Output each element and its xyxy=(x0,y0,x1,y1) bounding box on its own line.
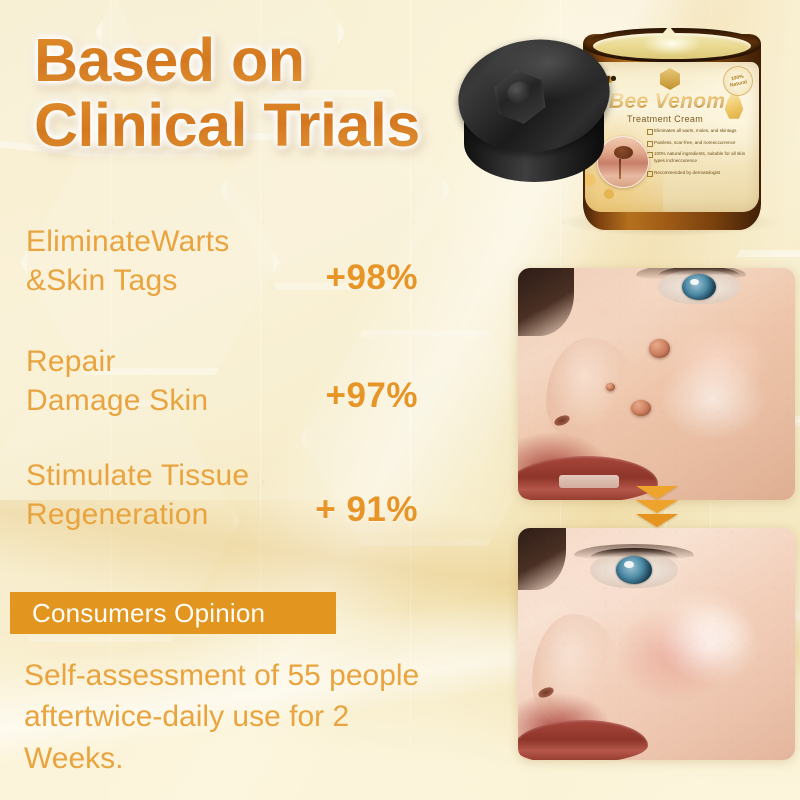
claim-item: Repair Damage Skin +97% xyxy=(0,334,460,446)
benefit-item: Eliminates all warts, moles, and skintag… xyxy=(647,128,755,135)
after-treatment-photo xyxy=(518,528,795,760)
headline-line-2: Clinical Trials xyxy=(34,93,464,158)
benefit-item: 100% natural ingredients, suitable for a… xyxy=(647,151,755,164)
claim-label-line-2: Damage Skin xyxy=(26,381,208,420)
transition-arrows xyxy=(622,486,692,534)
note-line-1: Self-assessment of 55 people xyxy=(24,655,454,696)
note-line-2: aftertwice-daily use for 2 xyxy=(24,696,454,737)
consumers-opinion-banner: Consumers Opinion xyxy=(10,592,336,634)
claim-label-line-1: Stimulate Tissue xyxy=(26,456,249,495)
claim-label-line-2: Regeneration xyxy=(26,495,249,534)
note-line-3: Weeks. xyxy=(24,738,454,779)
natural-seal-badge: 100% Natural xyxy=(720,63,756,99)
chevron-down-icon xyxy=(636,514,678,527)
claim-label: Stimulate Tissue Regeneration xyxy=(26,456,249,534)
claim-percent: +98% xyxy=(326,258,419,298)
claim-percent: + 91% xyxy=(315,490,418,530)
product-subtitle: Treatment Cream xyxy=(627,114,703,124)
claim-label: EliminateWarts &Skin Tags xyxy=(26,222,229,300)
claim-label: Repair Damage Skin xyxy=(26,342,208,420)
chevron-down-icon xyxy=(636,486,678,499)
claim-item: EliminateWarts &Skin Tags +98% xyxy=(0,222,460,334)
cream-content xyxy=(593,33,751,59)
jar-lid xyxy=(458,40,613,212)
skin-texture xyxy=(518,528,795,760)
skin-texture xyxy=(518,268,795,500)
claim-item: Stimulate Tissue Regeneration + 91% xyxy=(0,446,460,558)
claim-percent: +97% xyxy=(326,376,419,416)
claims-list: EliminateWarts &Skin Tags +98% Repair Da… xyxy=(0,222,460,558)
claim-label-line-2: &Skin Tags xyxy=(26,261,229,300)
before-treatment-photo xyxy=(518,268,795,500)
product-brand-name: Bee Venom xyxy=(609,90,725,114)
consumers-opinion-note: Self-assessment of 55 people aftertwice-… xyxy=(24,655,454,779)
product-image: 100% Natural Bee Venom Treatment Cream E… xyxy=(452,12,792,247)
consumers-opinion-label: Consumers Opinion xyxy=(10,598,265,629)
product-benefit-list: Eliminates all warts, moles, and skintag… xyxy=(647,128,755,181)
claim-label-line-1: EliminateWarts xyxy=(26,222,229,261)
brand-crest-icon xyxy=(660,68,680,90)
claim-label-line-1: Repair xyxy=(26,342,208,381)
benefit-item: Painless, scar-free, and noreoccurrence xyxy=(647,140,755,147)
page-title: Based on Clinical Trials xyxy=(34,28,464,159)
headline-line-1: Based on xyxy=(34,28,464,93)
chevron-down-icon xyxy=(636,500,678,513)
benefit-item: Recommended by dermatologist xyxy=(647,170,755,177)
